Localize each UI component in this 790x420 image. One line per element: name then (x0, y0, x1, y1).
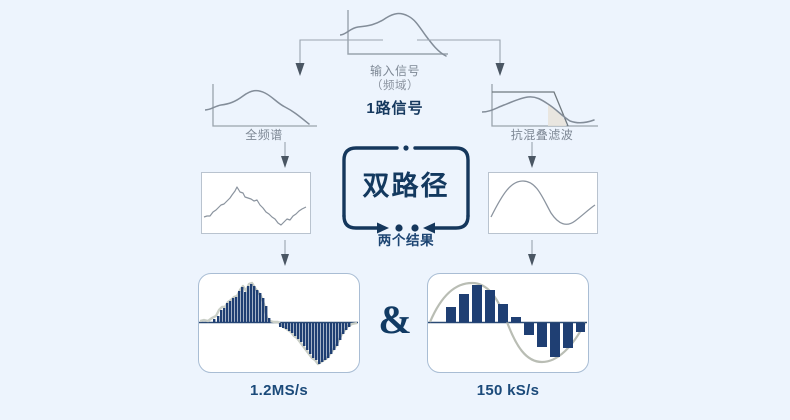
low-rate-result-chart (427, 273, 589, 373)
left-arrow-to-result (278, 240, 292, 268)
two-results-label: 两个结果 (346, 232, 466, 249)
signal-count-label: 1路信号 (330, 100, 460, 118)
left-arrow-to-waveform (278, 142, 292, 170)
dual-path-badge: 双路径 (337, 144, 475, 236)
ampersand-conjunction: & (365, 300, 425, 340)
low-rate-label: 150 kS/s (427, 382, 589, 400)
full-spectrum-chart (205, 82, 323, 134)
diagram-canvas: 输入信号 （频域） 1路信号 全频谱 (0, 0, 790, 420)
sine-waveform-plot (488, 172, 598, 234)
right-arrow-to-result (525, 240, 539, 268)
branch-connector-lines (270, 38, 530, 82)
high-rate-label: 1.2MS/s (198, 382, 360, 400)
antialias-filter-caption: 抗混叠滤波 (482, 128, 602, 143)
noise-waveform-plot (201, 172, 311, 234)
dual-path-badge-text: 双路径 (337, 164, 475, 203)
high-rate-result-chart (198, 273, 360, 373)
antialias-filter-chart (482, 82, 602, 134)
full-spectrum-caption: 全频谱 (205, 128, 323, 143)
right-arrow-to-waveform (525, 142, 539, 170)
